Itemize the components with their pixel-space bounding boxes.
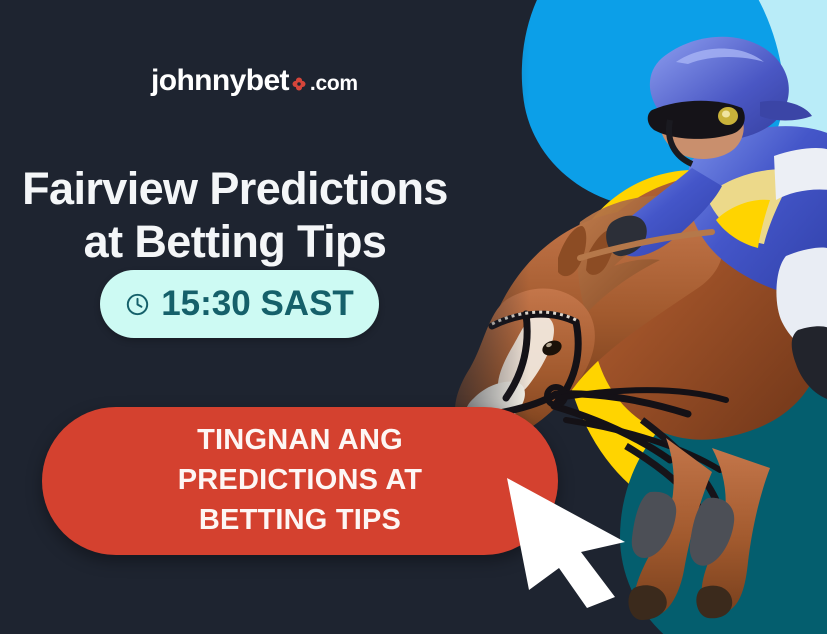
- page-title-line-2: at Betting Tips: [0, 216, 470, 269]
- logo-domain-suffix: .com: [310, 72, 358, 96]
- page-title: Fairview Predictions at Betting Tips: [0, 163, 470, 268]
- page-title-line-1: Fairview Predictions: [0, 163, 470, 216]
- decorative-blob-teal: [620, 375, 827, 634]
- cta-line-3: BETTING TIPS: [178, 501, 422, 541]
- cta-line-2: PREDICTIONS AT: [178, 461, 422, 501]
- logo-wordmark: johnnybet: [151, 64, 289, 98]
- decorative-blob-cyan-edge: [707, 0, 827, 340]
- clover-icon: [292, 77, 306, 91]
- cta-line-1: TINGNAN ANG: [178, 421, 422, 461]
- johnnybet-logo[interactable]: johnnybet .com: [151, 64, 358, 98]
- promo-banner: johnnybet .com Fairview Predictions at B…: [0, 0, 827, 634]
- decorative-blob-blue: [501, 0, 799, 227]
- decorative-blob-cyan-corner: [627, 0, 827, 160]
- race-time-badge: 15:30 SAST: [100, 270, 379, 338]
- cta-button-label: TINGNAN ANG PREDICTIONS AT BETTING TIPS: [148, 421, 452, 540]
- decorative-blob-yellow: [560, 170, 827, 520]
- clock-icon: [125, 292, 150, 317]
- race-time-text: 15:30 SAST: [161, 284, 354, 324]
- cta-button[interactable]: TINGNAN ANG PREDICTIONS AT BETTING TIPS: [42, 407, 558, 555]
